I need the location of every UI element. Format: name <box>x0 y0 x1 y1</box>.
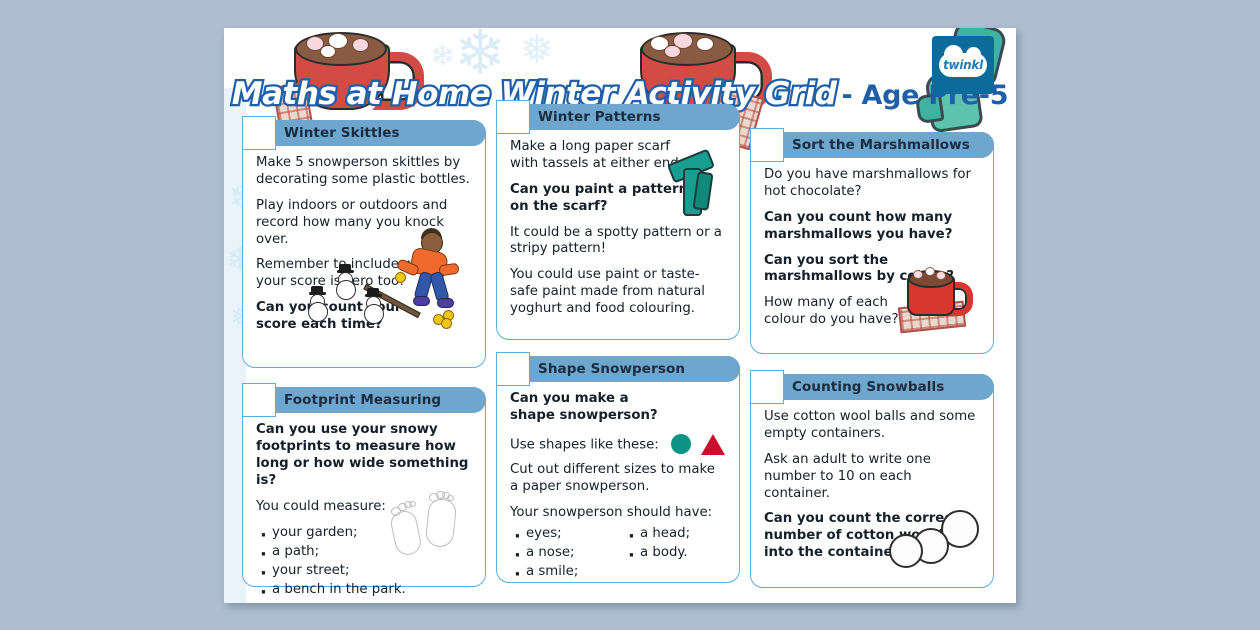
activity-card-sort-the-marshmallows[interactable]: Sort the Marshmallows Do you have marshm… <box>750 132 994 354</box>
card-paragraph-bold: Can you count how many marshmallows you … <box>764 210 980 244</box>
card-header: Winter Patterns <box>496 104 740 130</box>
card-checkbox[interactable] <box>496 352 530 386</box>
activity-card-shape-snowperson[interactable]: Shape Snowperson Can you make a shape sn… <box>496 356 740 583</box>
cloud-icon: twinkl <box>939 53 987 77</box>
card-paragraph: How many of each colour do you have? <box>764 295 914 329</box>
card-body: Make a long paper scarf with tassels at … <box>497 130 739 337</box>
card-bullet-columns: eyes; a nose; a smile; a head; a body. <box>510 523 726 582</box>
card-paragraph-bold: Can you make a shape snowperson? <box>510 391 670 425</box>
snowflake-icon: ❅ <box>520 30 554 70</box>
card-title: Sort the Marshmallows <box>792 137 970 153</box>
card-checkbox[interactable] <box>750 370 784 404</box>
twinkl-logo[interactable]: twinkl <box>932 36 994 94</box>
card-title: Shape Snowperson <box>538 361 685 377</box>
card-paragraph: Use cotton wool balls and some empty con… <box>764 409 980 443</box>
card-paragraph: Remember to include when your score is z… <box>256 257 472 291</box>
card-bullet-list-left: eyes; a nose; a smile; <box>510 525 606 582</box>
card-header: Shape Snowperson <box>496 356 740 382</box>
card-title: Winter Skittles <box>284 125 400 141</box>
shape-examples <box>671 434 725 455</box>
card-paragraph-bold: Can you sort the marshmallows by colour? <box>764 253 980 287</box>
card-body: Can you use your snowy footprints to mea… <box>243 413 485 603</box>
card-paragraph: Cut out different sizes to make a paper … <box>510 462 726 496</box>
card-paragraph: Make a long paper scarf with tassels at … <box>510 139 695 173</box>
card-checkbox[interactable] <box>750 128 784 162</box>
card-header-bar: Footprint Measuring <box>256 387 486 413</box>
card-paragraph-bold: Can you use your snowy footprints to mea… <box>256 422 472 490</box>
triangle-shape-icon <box>701 434 725 455</box>
snowflake-icon: ❄ <box>430 42 455 72</box>
card-checkbox[interactable] <box>242 383 276 417</box>
card-paragraph: Your snowperson should have: <box>510 505 726 522</box>
card-header-bar: Counting Snowballs <box>764 374 994 400</box>
card-paragraph-bold: Can you paint a pattern on the scarf? <box>510 182 700 216</box>
list-item: your garden; <box>256 524 472 543</box>
card-paragraph: Ask an adult to write one number to 10 o… <box>764 452 980 503</box>
card-body: Use cotton wool balls and some empty con… <box>751 400 993 581</box>
card-header-bar: Winter Skittles <box>256 120 486 146</box>
activity-grid: Winter Skittles Make 5 snowperson skittl… <box>242 120 998 588</box>
circle-shape-icon <box>671 434 691 454</box>
card-title: Winter Patterns <box>538 109 661 125</box>
card-paragraph: Do you have marshmallows for hot chocola… <box>764 167 980 201</box>
list-item: a body. <box>624 544 690 563</box>
card-paragraph: It could be a spotty pattern or a stripy… <box>510 225 726 259</box>
card-paragraph: You could use paint or taste-safe paint … <box>510 267 726 318</box>
card-header: Counting Snowballs <box>750 374 994 400</box>
card-header: Sort the Marshmallows <box>750 132 994 158</box>
card-header-bar: Shape Snowperson <box>510 356 740 382</box>
card-title: Counting Snowballs <box>792 379 944 395</box>
card-paragraph-bold: Can you count the correct number of cott… <box>764 511 980 562</box>
card-bullet-list: your garden; a path; your street; a benc… <box>256 524 472 600</box>
card-checkbox[interactable] <box>496 100 530 134</box>
card-title: Footprint Measuring <box>284 392 441 408</box>
activity-sheet-page: ❄ ❄ ❅ ❄ ❅ ❄ <box>224 28 1016 603</box>
twinkl-wordmark: twinkl <box>943 58 983 72</box>
card-paragraph: Use shapes like these: <box>510 437 659 452</box>
list-item: a nose; <box>510 544 606 563</box>
card-header: Footprint Measuring <box>242 387 486 413</box>
card-bullet-list-right: a head; a body. <box>624 525 690 582</box>
list-item: a head; <box>624 525 690 544</box>
activity-card-counting-snowballs[interactable]: Counting Snowballs Use cotton wool balls… <box>750 374 994 588</box>
card-body: Make 5 snowperson skittles by decorating… <box>243 146 485 353</box>
card-header: Winter Skittles <box>242 120 486 146</box>
card-header-bar: Winter Patterns <box>510 104 740 130</box>
grid-column-2: Winter Patterns Make a long paper scarf … <box>496 104 740 588</box>
card-body: Can you make a shape snowperson? Use sha… <box>497 382 739 592</box>
grid-column-1: Winter Skittles Make 5 snowperson skittl… <box>242 120 486 588</box>
card-paragraph-with-shapes: Use shapes like these: <box>510 434 726 455</box>
card-checkbox[interactable] <box>242 116 276 150</box>
card-paragraph: You could measure: <box>256 499 472 516</box>
card-paragraph: Make 5 snowperson skittles by decorating… <box>256 155 472 189</box>
card-paragraph: Play indoors or outdoors and record how … <box>256 198 472 249</box>
grid-column-3: Sort the Marshmallows Do you have marshm… <box>750 132 994 588</box>
list-item: a smile; <box>510 563 606 582</box>
card-body: Do you have marshmallows for hot chocola… <box>751 158 993 348</box>
list-item: your street; <box>256 562 472 581</box>
list-item: a bench in the park. <box>256 581 472 600</box>
activity-card-winter-skittles[interactable]: Winter Skittles Make 5 snowperson skittl… <box>242 120 486 368</box>
card-paragraph-bold: Can you count your score each time? <box>256 300 406 334</box>
activity-card-winter-patterns[interactable]: Winter Patterns Make a long paper scarf … <box>496 104 740 340</box>
list-item: eyes; <box>510 525 606 544</box>
screenshot-root: ❄ ❄ ❅ ❄ ❅ ❄ <box>0 0 1260 630</box>
list-item: a path; <box>256 543 472 562</box>
activity-card-footprint-measuring[interactable]: Footprint Measuring Can you use your sno… <box>242 387 486 587</box>
card-header-bar: Sort the Marshmallows <box>764 132 994 158</box>
